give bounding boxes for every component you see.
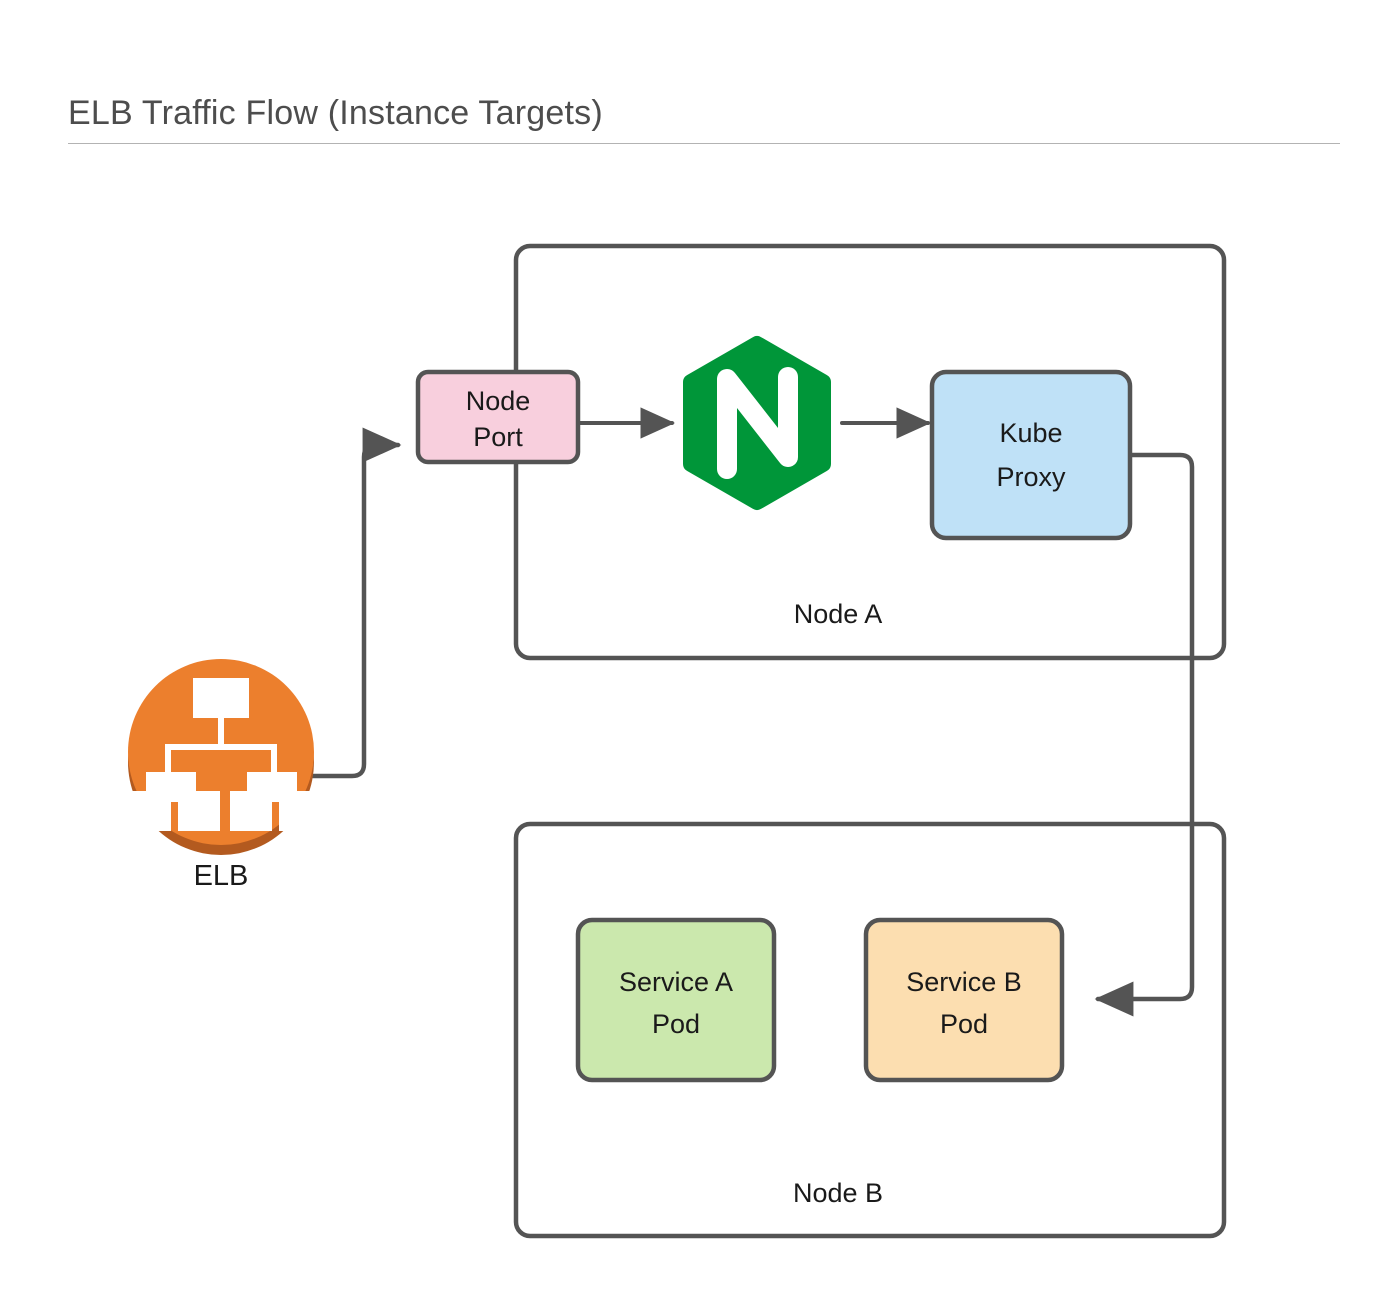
elb-traffic-flow-diagram: Node A Node B: [0, 0, 1400, 1308]
service-a-pod-box[interactable]: Service A Pod: [578, 920, 774, 1080]
node-port-box[interactable]: Node Port: [418, 372, 578, 462]
kube-proxy-label-line1: Kube: [999, 418, 1062, 448]
service-b-pod-box[interactable]: Service B Pod: [866, 920, 1062, 1080]
connector-elb-node-port: [312, 445, 398, 776]
node-b-label: Node B: [793, 1178, 883, 1208]
kube-proxy-rect: [932, 372, 1130, 538]
node-port-label-line1: Node: [466, 386, 531, 416]
service-a-pod-rect: [578, 920, 774, 1080]
elb-icon[interactable]: ELB: [128, 659, 321, 892]
kube-proxy-box[interactable]: Kube Proxy: [932, 372, 1130, 538]
service-b-pod-label-line2: Pod: [940, 1009, 988, 1039]
node-a-label: Node A: [794, 599, 883, 629]
nginx-logo-icon[interactable]: [691, 344, 823, 502]
edge-elb-to-node-port: [312, 445, 398, 776]
service-b-pod-rect: [866, 920, 1062, 1080]
service-a-pod-label-line2: Pod: [652, 1009, 700, 1039]
node-port-label-line2: Port: [473, 422, 523, 452]
service-b-pod-label-line1: Service B: [906, 967, 1022, 997]
kube-proxy-label-line2: Proxy: [996, 462, 1066, 492]
service-a-pod-label-line1: Service A: [619, 967, 733, 997]
diagram-page: ELB Traffic Flow (Instance Targets) Node…: [0, 0, 1400, 1308]
elb-label: ELB: [194, 860, 249, 892]
